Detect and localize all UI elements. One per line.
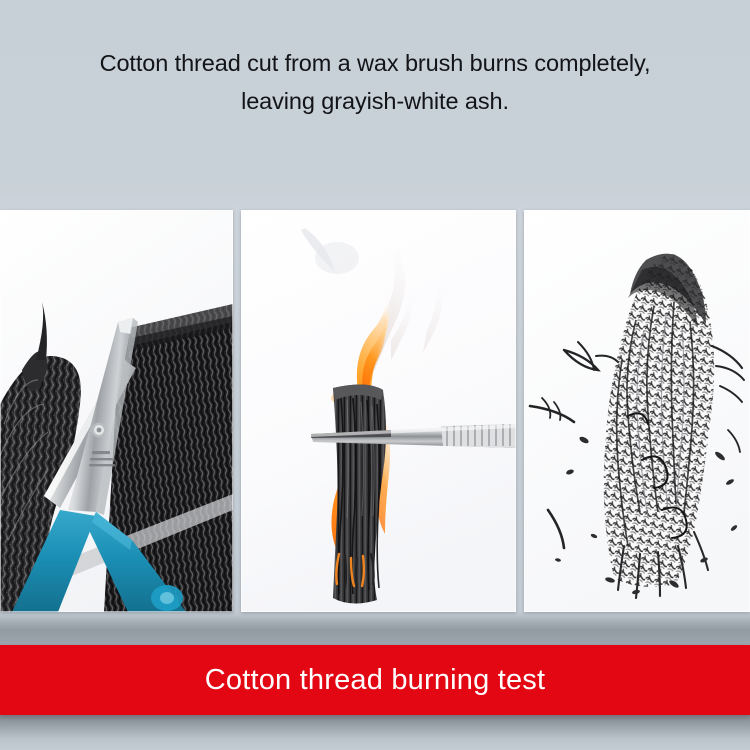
- ash-residue-illustration: [524, 210, 750, 612]
- ash-residue-photo: [524, 210, 750, 612]
- infographic-page: Cotton thread cut from a wax brush burns…: [0, 0, 750, 750]
- banner-sheen-bottom: [0, 715, 750, 750]
- burning-thread-photo: [241, 210, 516, 612]
- banner-label: Cotton thread burning test: [205, 664, 546, 697]
- status-banner: Cotton thread burning test: [0, 645, 750, 715]
- burning-thread-illustration: [241, 210, 516, 612]
- headline-line-1: Cotton thread cut from a wax brush burns…: [0, 44, 750, 82]
- cutting-thread-photo: [0, 210, 233, 612]
- headline-line-2: leaving grayish-white ash.: [0, 82, 750, 120]
- page-title: Cotton thread cut from a wax brush burns…: [0, 44, 750, 120]
- charred-thread-bundle: [333, 384, 386, 603]
- cutting-thread-illustration: [0, 210, 233, 612]
- banner-sheen-top: [0, 612, 750, 645]
